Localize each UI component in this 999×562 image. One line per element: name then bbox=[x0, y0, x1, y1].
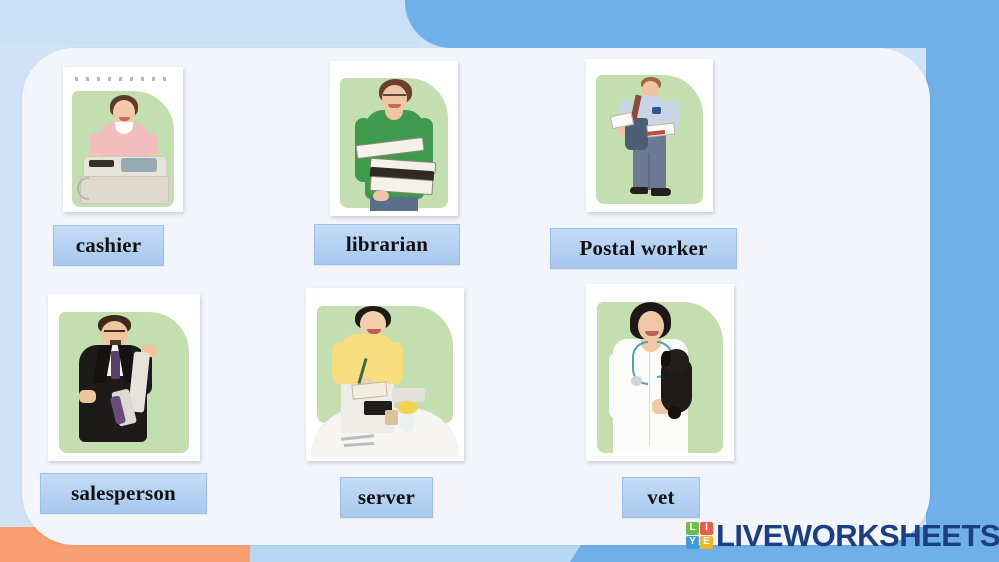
cash-drawer bbox=[80, 176, 169, 204]
cash-register-display bbox=[121, 158, 157, 172]
smile bbox=[119, 117, 130, 121]
photo-server-inner bbox=[311, 293, 459, 456]
photo-librarian-inner bbox=[335, 66, 453, 211]
logo-letter-squares: L I Y E bbox=[686, 522, 713, 549]
cash-register-slot bbox=[89, 160, 114, 167]
photo-cashier[interactable] bbox=[63, 67, 183, 212]
label-text: salesperson bbox=[71, 481, 176, 506]
shoe-right bbox=[651, 188, 671, 195]
label-chip-librarian[interactable]: librarian bbox=[314, 224, 460, 265]
label-text: librarian bbox=[346, 232, 428, 257]
shirt-badge bbox=[652, 107, 661, 114]
yellow-flowers bbox=[397, 401, 418, 414]
background-blue-band-right bbox=[926, 0, 999, 562]
label-chip-postal-worker[interactable]: Postal worker bbox=[550, 228, 737, 269]
logo-square-y: Y bbox=[686, 536, 699, 549]
figure-server bbox=[311, 293, 459, 456]
background-blue-shape-top-right bbox=[405, 0, 999, 48]
label-text: vet bbox=[647, 485, 674, 510]
photo-salesperson[interactable] bbox=[48, 294, 200, 461]
photo-salesperson-inner bbox=[53, 299, 195, 456]
head bbox=[113, 100, 135, 124]
photo-vet-inner bbox=[591, 289, 729, 456]
arm-right bbox=[384, 342, 403, 384]
label-chip-cashier[interactable]: cashier bbox=[53, 225, 164, 266]
photo-librarian[interactable] bbox=[330, 61, 458, 216]
stethoscope-chestpiece bbox=[631, 376, 642, 386]
puppy-paw bbox=[668, 406, 680, 419]
photo-postal-worker-inner bbox=[591, 64, 708, 207]
photo-postal-worker[interactable] bbox=[586, 59, 713, 212]
photo-vet[interactable] bbox=[586, 284, 734, 461]
photo-server[interactable] bbox=[306, 288, 464, 461]
background-pale-strip-top-left bbox=[0, 0, 420, 44]
glasses bbox=[383, 94, 405, 102]
notepad bbox=[352, 381, 388, 400]
hand-lower bbox=[79, 390, 96, 403]
lab-coat-seam bbox=[649, 346, 650, 446]
label-chip-server[interactable]: server bbox=[340, 477, 433, 518]
arm-left bbox=[332, 342, 351, 384]
label-text: cashier bbox=[76, 233, 142, 258]
shoe-left bbox=[630, 187, 649, 194]
napkin-stack bbox=[392, 388, 425, 403]
liveworksheets-logo[interactable]: L I Y E LIVEWORKSHEETS bbox=[686, 519, 999, 551]
logo-square-i: I bbox=[700, 522, 713, 535]
trouser-split bbox=[648, 153, 650, 190]
label-text: Postal worker bbox=[580, 236, 708, 261]
hand-under-books bbox=[373, 191, 390, 201]
gift-box bbox=[385, 410, 398, 425]
photo-cashier-inner bbox=[68, 72, 178, 207]
eyebrows bbox=[104, 330, 125, 332]
smile bbox=[388, 104, 401, 108]
logo-square-e: E bbox=[700, 536, 713, 549]
label-chip-salesperson[interactable]: salesperson bbox=[40, 473, 207, 514]
worksheet-canvas: cashier librarian bbox=[0, 0, 999, 562]
logo-square-l: L bbox=[686, 522, 699, 535]
head bbox=[638, 311, 664, 341]
figure-salesperson bbox=[53, 299, 195, 456]
label-text: server bbox=[358, 485, 415, 510]
label-chip-vet[interactable]: vet bbox=[622, 477, 700, 518]
arm-left bbox=[609, 352, 630, 419]
smile bbox=[645, 331, 659, 336]
logo-wordmark: LIVEWORKSHEETS bbox=[716, 520, 999, 551]
